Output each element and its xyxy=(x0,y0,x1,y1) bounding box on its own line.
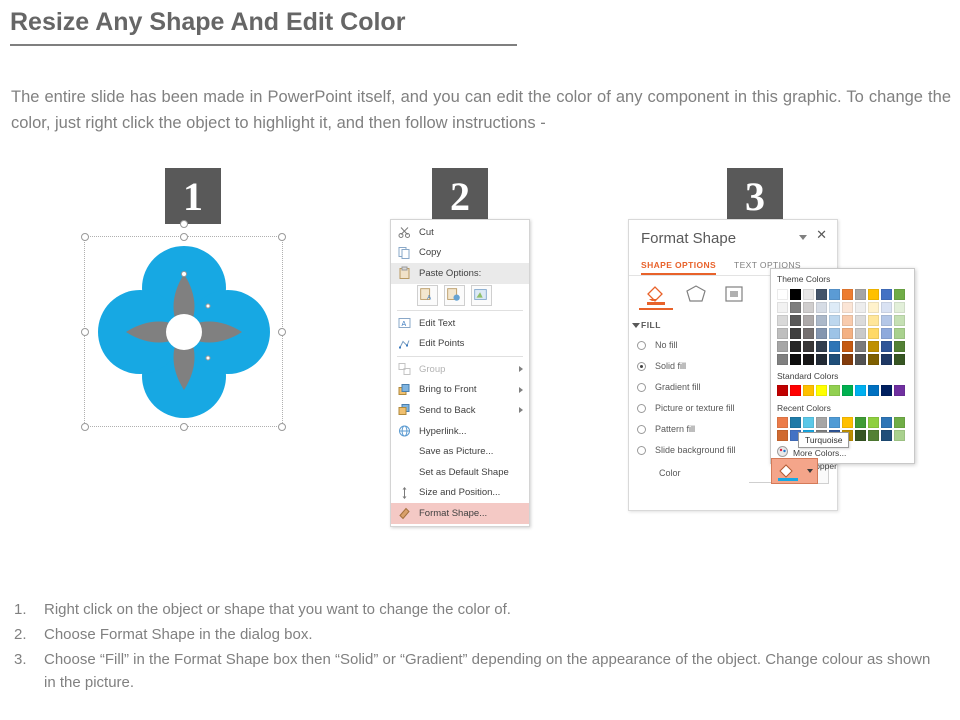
step-number: 3. xyxy=(14,648,44,694)
color-swatch[interactable] xyxy=(842,354,853,365)
color-swatch[interactable] xyxy=(816,341,827,352)
color-swatch[interactable] xyxy=(894,385,905,396)
more-colors-label: More Colors... xyxy=(793,448,846,458)
color-swatch[interactable] xyxy=(881,354,892,365)
color-swatch[interactable] xyxy=(855,385,866,396)
color-swatch[interactable] xyxy=(855,289,866,300)
radio-icon xyxy=(637,425,646,434)
resize-handle-n[interactable] xyxy=(180,233,188,241)
menu-item-paste-options[interactable]: Paste Options: xyxy=(391,263,529,284)
color-swatch[interactable] xyxy=(855,328,866,339)
color-swatch[interactable] xyxy=(855,354,866,365)
list-item: 1. Right click on the object or shape th… xyxy=(14,598,944,621)
format-shape-icon xyxy=(398,507,411,520)
fill-bucket-icon[interactable] xyxy=(643,283,669,305)
menu-item-label: Edit Text xyxy=(419,318,455,329)
color-swatch[interactable] xyxy=(894,315,905,326)
color-swatch[interactable] xyxy=(894,417,905,428)
color-swatch[interactable] xyxy=(881,417,892,428)
menu-item-size-and-position[interactable]: Size and Position... xyxy=(391,483,529,504)
color-swatch[interactable] xyxy=(790,417,801,428)
color-swatch[interactable] xyxy=(790,289,801,300)
fill-section-header: FILL xyxy=(641,320,661,330)
active-icon-underline xyxy=(639,308,673,310)
step-text: Choose “Fill” in the Format Shape box th… xyxy=(44,648,944,694)
color-swatch[interactable] xyxy=(829,315,840,326)
color-swatch[interactable] xyxy=(894,430,905,441)
title-underline xyxy=(10,44,517,46)
color-swatch[interactable] xyxy=(803,341,814,352)
color-swatch[interactable] xyxy=(777,430,788,441)
radio-icon-selected xyxy=(637,362,646,371)
menu-separator xyxy=(397,356,523,357)
color-swatch[interactable] xyxy=(881,385,892,396)
rotate-handle[interactable] xyxy=(180,220,188,228)
send-back-icon xyxy=(398,404,411,417)
radio-solid-fill[interactable]: Solid fill xyxy=(655,361,686,371)
color-swatch[interactable] xyxy=(816,417,827,428)
color-swatch[interactable] xyxy=(868,289,879,300)
color-swatch[interactable] xyxy=(855,417,866,428)
intro-paragraph: The entire slide has been made in PowerP… xyxy=(11,84,951,136)
color-swatch[interactable] xyxy=(842,341,853,352)
color-swatch[interactable] xyxy=(790,354,801,365)
resize-handle-w[interactable] xyxy=(81,328,89,336)
menu-item-send-to-back[interactable]: Send to Back xyxy=(391,400,529,421)
color-swatch[interactable] xyxy=(803,417,814,428)
color-swatch[interactable] xyxy=(790,328,801,339)
color-swatch[interactable] xyxy=(855,430,866,441)
color-swatch[interactable] xyxy=(842,302,853,313)
color-swatch[interactable] xyxy=(790,385,801,396)
hyperlink-icon xyxy=(398,425,411,438)
menu-item-label: Hyperlink... xyxy=(419,426,467,437)
theme-colors-header: Theme Colors xyxy=(777,274,830,284)
radio-picture-or-texture-fill[interactable]: Picture or texture fill xyxy=(655,403,735,413)
step-text: Choose Format Shape in the dialog box. xyxy=(44,623,944,646)
resize-handle-ne[interactable] xyxy=(278,233,286,241)
color-swatch[interactable] xyxy=(868,354,879,365)
default-shape-icon xyxy=(398,466,411,479)
step-number: 2. xyxy=(14,623,44,646)
color-swatch[interactable] xyxy=(777,354,788,365)
svg-text:A: A xyxy=(402,321,407,328)
radio-icon xyxy=(637,404,646,413)
color-swatch[interactable] xyxy=(777,328,788,339)
color-swatch[interactable] xyxy=(790,341,801,352)
step-badge-2: 2 xyxy=(432,168,488,224)
color-swatch[interactable] xyxy=(842,328,853,339)
color-swatch[interactable] xyxy=(777,417,788,428)
list-item: 2. Choose Format Shape in the dialog box… xyxy=(14,623,944,646)
size-properties-icon[interactable] xyxy=(721,283,747,305)
chevron-right-icon xyxy=(519,387,523,393)
color-swatch[interactable] xyxy=(829,417,840,428)
chevron-right-icon xyxy=(519,366,523,372)
radio-label: Solid fill xyxy=(655,361,686,371)
menu-item-label: Size and Position... xyxy=(419,487,500,498)
color-swatch[interactable] xyxy=(816,328,827,339)
color-swatch[interactable] xyxy=(868,328,879,339)
color-swatch[interactable] xyxy=(868,385,879,396)
menu-item-label: Bring to Front xyxy=(419,384,477,395)
color-swatch[interactable] xyxy=(803,328,814,339)
flower-shape-graphic[interactable] xyxy=(98,246,270,418)
step-badge-1: 1 xyxy=(165,168,221,224)
menu-item-group: Group xyxy=(391,359,529,380)
fill-color-button[interactable] xyxy=(771,458,805,484)
group-icon xyxy=(398,363,411,376)
menu-item-label: Paste Options: xyxy=(419,268,481,279)
menu-item-label: Set as Default Shape xyxy=(419,467,509,478)
color-swatch[interactable] xyxy=(829,341,840,352)
paste-picture-button[interactable] xyxy=(471,285,492,306)
radio-slide-background-fill[interactable]: Slide background fill xyxy=(655,445,736,455)
theme-colors-grid[interactable] xyxy=(777,289,907,367)
color-swatch[interactable] xyxy=(881,430,892,441)
color-swatch[interactable] xyxy=(803,385,814,396)
color-swatch[interactable] xyxy=(803,354,814,365)
color-swatch[interactable] xyxy=(855,341,866,352)
color-swatch[interactable] xyxy=(816,385,827,396)
list-item: 3. Choose “Fill” in the Format Shape box… xyxy=(14,648,944,694)
paste-icon xyxy=(398,267,411,280)
color-swatch[interactable] xyxy=(816,315,827,326)
menu-item-edit-text[interactable]: A Edit Text xyxy=(391,313,529,334)
menu-item-copy[interactable]: Copy xyxy=(391,243,529,264)
color-swatch[interactable] xyxy=(803,289,814,300)
format-shape-title: Format Shape xyxy=(641,230,736,247)
resize-handle-nw[interactable] xyxy=(81,233,89,241)
color-swatch[interactable] xyxy=(868,341,879,352)
fill-color-dropdown-arrow[interactable] xyxy=(803,458,818,484)
color-swatch[interactable] xyxy=(868,315,879,326)
color-swatch[interactable] xyxy=(868,430,879,441)
radio-label: No fill xyxy=(655,340,678,350)
menu-item-label: Group xyxy=(419,364,445,375)
menu-item-label: Save as Picture... xyxy=(419,446,493,457)
color-swatch[interactable] xyxy=(777,302,788,313)
menu-separator xyxy=(397,310,523,311)
paste-options-row[interactable]: A xyxy=(391,284,529,308)
menu-item-format-shape[interactable]: Format Shape... xyxy=(391,503,529,524)
instructions-list: 1. Right click on the object or shape th… xyxy=(14,598,944,696)
color-swatch[interactable] xyxy=(881,315,892,326)
menu-item-label: Cut xyxy=(419,227,434,238)
color-swatch[interactable] xyxy=(894,341,905,352)
paste-merge-button[interactable] xyxy=(444,285,465,306)
size-position-icon xyxy=(398,486,411,499)
resize-handle-se[interactable] xyxy=(278,423,286,431)
color-tooltip: Turquoise xyxy=(798,432,849,448)
triangle-collapse-icon[interactable] xyxy=(632,323,640,328)
color-swatch[interactable] xyxy=(829,302,840,313)
color-swatch[interactable] xyxy=(803,315,814,326)
color-swatch[interactable] xyxy=(868,302,879,313)
edit-text-icon: A xyxy=(398,317,411,330)
radio-label: Picture or texture fill xyxy=(655,403,735,413)
menu-item-label: Edit Points xyxy=(419,338,464,349)
radio-gradient-fill[interactable]: Gradient fill xyxy=(655,382,701,392)
step-text: Right click on the object or shape that … xyxy=(44,598,944,621)
color-swatch[interactable] xyxy=(894,328,905,339)
menu-item-save-as-picture[interactable]: Save as Picture... xyxy=(391,441,529,462)
menu-item-hyperlink[interactable]: Hyperlink... xyxy=(391,421,529,442)
color-swatch[interactable] xyxy=(894,302,905,313)
color-swatch[interactable] xyxy=(777,385,788,396)
menu-item-edit-points[interactable]: Edit Points xyxy=(391,333,529,354)
color-swatch[interactable] xyxy=(829,328,840,339)
copy-icon xyxy=(398,246,411,259)
radio-no-fill[interactable]: No fill xyxy=(655,340,678,350)
color-swatch[interactable] xyxy=(855,315,866,326)
color-swatch[interactable] xyxy=(881,289,892,300)
context-menu[interactable]: Cut Copy Paste Options: A A Edit Text xyxy=(390,219,530,527)
svg-text:A: A xyxy=(427,295,432,302)
radio-pattern-fill[interactable]: Pattern fill xyxy=(655,424,695,434)
color-swatch[interactable] xyxy=(777,315,788,326)
chevron-right-icon xyxy=(519,407,523,413)
radio-icon xyxy=(637,383,646,392)
bring-front-icon xyxy=(398,383,411,396)
color-swatch[interactable] xyxy=(855,302,866,313)
radio-icon xyxy=(637,446,646,455)
color-swatch[interactable] xyxy=(842,289,853,300)
color-swatch[interactable] xyxy=(816,302,827,313)
menu-item-label: Copy xyxy=(419,247,441,258)
tab-shape-options[interactable]: SHAPE OPTIONS xyxy=(641,260,716,275)
color-swatch[interactable] xyxy=(829,289,840,300)
standard-colors-grid[interactable] xyxy=(777,385,907,398)
shape-preview-panel[interactable] xyxy=(84,236,284,428)
color-swatch[interactable] xyxy=(881,328,892,339)
resize-handle-e[interactable] xyxy=(278,328,286,336)
color-swatch[interactable] xyxy=(868,417,879,428)
chevron-down-icon[interactable] xyxy=(799,235,807,240)
menu-item-label: Send to Back xyxy=(419,405,476,416)
edit-points-icon xyxy=(398,337,411,350)
radio-label: Slide background fill xyxy=(655,445,736,455)
resize-handle-s[interactable] xyxy=(180,423,188,431)
color-swatch[interactable] xyxy=(777,341,788,352)
resize-handle-sw[interactable] xyxy=(81,423,89,431)
step-badge-3: 3 xyxy=(727,168,783,224)
step-number: 1. xyxy=(14,598,44,621)
page-title: Resize Any Shape And Edit Color xyxy=(10,8,405,37)
menu-item-set-default-shape[interactable]: Set as Default Shape xyxy=(391,462,529,483)
color-swatch[interactable] xyxy=(803,302,814,313)
color-swatch[interactable] xyxy=(777,289,788,300)
menu-item-bring-to-front[interactable]: Bring to Front xyxy=(391,380,529,401)
color-swatch[interactable] xyxy=(790,302,801,313)
scissors-icon xyxy=(398,226,411,239)
color-label: Color xyxy=(659,468,681,478)
color-swatch[interactable] xyxy=(881,341,892,352)
menu-item-cut[interactable]: Cut xyxy=(391,222,529,243)
color-swatch[interactable] xyxy=(881,302,892,313)
standard-colors-header: Standard Colors xyxy=(777,371,838,381)
color-swatch[interactable] xyxy=(842,385,853,396)
color-swatch[interactable] xyxy=(894,354,905,365)
color-swatch[interactable] xyxy=(894,289,905,300)
close-icon[interactable]: ✕ xyxy=(816,228,827,241)
radio-label: Pattern fill xyxy=(655,424,695,434)
color-swatch[interactable] xyxy=(842,315,853,326)
color-swatch[interactable] xyxy=(829,354,840,365)
effects-pentagon-icon[interactable] xyxy=(683,283,709,305)
color-swatch[interactable] xyxy=(790,315,801,326)
color-swatch[interactable] xyxy=(829,385,840,396)
color-swatch[interactable] xyxy=(842,417,853,428)
color-swatch[interactable] xyxy=(816,354,827,365)
menu-item-label: Format Shape... xyxy=(419,508,487,519)
radio-label: Gradient fill xyxy=(655,382,701,392)
radio-icon xyxy=(637,341,646,350)
paste-keep-formatting-button[interactable]: A xyxy=(417,285,438,306)
recent-colors-header: Recent Colors xyxy=(777,403,831,413)
color-swatch[interactable] xyxy=(816,289,827,300)
save-picture-icon xyxy=(398,445,411,458)
